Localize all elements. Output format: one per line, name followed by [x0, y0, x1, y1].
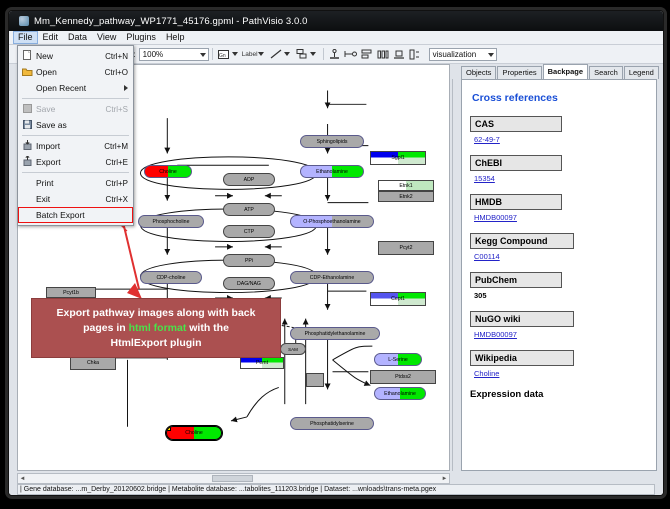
gene-node-sgpl1[interactable]: Sgpl1	[370, 151, 426, 165]
annotation-line-2: pages in html format with the	[83, 321, 229, 336]
xref-value-5[interactable]: HMDB00097	[474, 330, 648, 339]
metabolite-node-atp[interactable]: ATP	[223, 203, 275, 216]
metabolite-node-sphingolipids[interactable]: Sphingolipids	[300, 135, 364, 148]
cross-references-heading: Cross references	[472, 92, 648, 104]
annotation-highlight: html format	[129, 322, 187, 334]
gene-node-etnk2[interactable]: Etnk2	[378, 191, 434, 202]
file-menu-label: Save	[36, 104, 106, 114]
gene-node-ptdss2[interactable]: Ptdss2	[370, 370, 436, 384]
node-label: Cept1	[391, 296, 405, 302]
xref-label-4: PubChem	[470, 272, 562, 288]
gene-node-pcyt1b[interactable]: Pcyt1b	[46, 287, 96, 298]
toolbar-separator-1	[212, 48, 213, 60]
menu-help[interactable]: Help	[161, 31, 190, 44]
metabolite-node-ethanolamine-top[interactable]: Ethanolamine	[300, 165, 364, 178]
gene-node-cept1[interactable]: Cept1	[370, 292, 426, 306]
file-menu-label: Print	[36, 178, 106, 188]
xref-label-6: Wikipedia	[470, 350, 574, 366]
side-panel: Objects Properties Backpage Search Legen…	[452, 66, 657, 471]
gene-node-chka[interactable]: Chka	[70, 356, 116, 370]
app-icon	[19, 16, 29, 26]
new-file-icon	[18, 50, 36, 62]
align-icon[interactable]	[360, 47, 374, 61]
datanode-icon[interactable]: Gn	[217, 47, 231, 61]
menu-separator	[22, 172, 129, 173]
annotation-line-1: Export pathway images along with back	[57, 306, 256, 321]
gene-node-pemt[interactable]: Pemt	[240, 357, 284, 369]
tab-backpage[interactable]: Backpage	[543, 64, 588, 79]
gene-node-anchor-shape[interactable]	[306, 373, 324, 387]
annotation-line-3: HtmlExport plugin	[111, 336, 202, 351]
node-label: Etnk2	[399, 194, 412, 200]
metabolite-node-ppi[interactable]: PPi	[223, 254, 275, 267]
metabolite-node-dag-nag[interactable]: DAG/NAG	[223, 277, 275, 290]
file-menu-item-open-recent[interactable]: Open Recent	[18, 80, 133, 96]
node-label: DAG/NAG	[237, 281, 261, 287]
metabolite-node-cdp-ethanolamine[interactable]: CDP-Ethanolamine	[290, 271, 374, 284]
node-label: Phosphatidylethanolamine	[305, 331, 366, 337]
node-label: Ptdss2	[395, 374, 411, 380]
export-icon	[18, 156, 36, 168]
xref-value-4: 305	[474, 291, 648, 300]
file-menu-item-open[interactable]: Open Ctrl+O	[18, 64, 133, 80]
metabolite-node-o-phosphoethanolamine[interactable]: O-Phosphoethanolamine	[290, 215, 374, 228]
anchor-icon[interactable]	[328, 47, 342, 61]
xref-value-1[interactable]: 15354	[474, 174, 648, 183]
xref-label-3: Kegg Compound	[470, 233, 574, 249]
metabolite-node-cdp-choline[interactable]: CDP-choline	[140, 271, 202, 284]
save-disabled-icon	[18, 104, 36, 115]
file-menu-item-new[interactable]: New Ctrl+N	[18, 48, 133, 64]
status-bar: | Gene database: ...m_Derby_20120602.bri…	[17, 484, 655, 495]
shape-icon[interactable]	[295, 47, 309, 61]
interaction-icon[interactable]	[344, 47, 358, 61]
node-label: CDP-choline	[156, 275, 185, 281]
node-label: SAM	[288, 347, 298, 352]
node-label: Phosphatidylserine	[310, 421, 354, 427]
tab-search[interactable]: Search	[589, 66, 623, 79]
side-panel-tabs: Objects Properties Backpage Search Legen…	[452, 66, 657, 79]
file-menu-item-exit[interactable]: Exit Ctrl+X	[18, 191, 133, 207]
save-as-icon	[18, 120, 36, 131]
node-label: L-Serine	[388, 357, 408, 363]
menu-separator	[22, 135, 129, 136]
node-label: Phosphocholine	[153, 219, 190, 225]
menu-separator	[22, 98, 129, 99]
selection-handle[interactable]	[166, 426, 171, 431]
node-label: PPi	[245, 258, 253, 264]
file-menu-item-export[interactable]: Export Ctrl+E	[18, 154, 133, 170]
zoom-combo[interactable]: 100%	[139, 48, 209, 61]
visualization-combo[interactable]: visualization	[429, 48, 497, 61]
node-label: CTP	[244, 229, 254, 235]
menu-data[interactable]: Data	[63, 31, 92, 44]
title-bar: Mm_Kennedy_pathway_WP1771_45176.gpml - P…	[9, 11, 663, 31]
node-label: Ethanolamine	[316, 169, 348, 175]
stack-icon[interactable]	[392, 47, 406, 61]
shape-dropdown-icon[interactable]	[310, 52, 316, 56]
folder-open-icon	[18, 67, 36, 78]
menu-plugins[interactable]: Plugins	[121, 31, 161, 44]
xref-label-0: CAS	[470, 116, 562, 132]
metabolite-node-l-serine[interactable]: L-Serine	[374, 353, 422, 366]
node-label: ADP	[244, 177, 255, 183]
metabolite-node-choline-selected[interactable]: Choline	[166, 426, 222, 440]
file-menu-label: New	[36, 51, 105, 61]
chevron-down-icon	[488, 53, 494, 57]
group-icon[interactable]	[408, 47, 422, 61]
file-menu-label: Save as	[36, 120, 128, 130]
line-dropdown-icon[interactable]	[284, 52, 290, 56]
file-menu-item-print[interactable]: Print Ctrl+P	[18, 175, 133, 191]
cross-reference-list: CAS62-49-7ChEBI15354HMDBHMDB00097Kegg Co…	[470, 116, 648, 378]
tab-objects[interactable]: Objects	[461, 66, 496, 79]
backpage-content: Cross references CAS62-49-7ChEBI15354HMD…	[461, 79, 657, 471]
annotation-callout: Export pathway images along with back pa…	[31, 298, 281, 358]
canvas-horizontal-scrollbar[interactable]: ◄ ►	[17, 473, 450, 484]
menu-edit[interactable]: Edit	[38, 31, 64, 44]
expression-data-heading: Expression data	[470, 389, 648, 400]
file-menu-accel: Ctrl+M	[104, 142, 133, 151]
xref-label-1: ChEBI	[470, 155, 562, 171]
metabolite-node-ctp[interactable]: CTP	[223, 225, 275, 238]
annotation-line-2b: with the	[186, 322, 229, 334]
node-label: Choline	[185, 430, 203, 436]
file-menu-item-batch-export[interactable]: Batch Export	[18, 207, 133, 223]
file-menu-accel: Ctrl+X	[106, 195, 133, 204]
distribute-icon[interactable]	[376, 47, 390, 61]
node-label: Pcyt2	[400, 245, 413, 251]
node-label: CDP-Ethanolamine	[310, 275, 354, 281]
label-dropdown-icon[interactable]	[258, 52, 264, 56]
zoom-value: 100%	[143, 50, 163, 59]
metabolite-node-adp[interactable]: ADP	[223, 173, 275, 186]
menu-bar: File Edit Data View Plugins Help	[9, 31, 663, 45]
node-label: Chka	[87, 360, 99, 366]
file-menu-accel: Ctrl+E	[106, 158, 133, 167]
xref-label-2: HMDB	[470, 194, 562, 210]
file-menu-item-save-as[interactable]: Save as	[18, 117, 133, 133]
node-label: Pemt	[256, 360, 268, 366]
node-label: O-Phosphoethanolamine	[303, 219, 360, 225]
scroll-left-icon[interactable]: ◄	[18, 476, 27, 482]
annotation-line-2a: pages in	[83, 322, 129, 334]
line-icon[interactable]	[269, 47, 283, 61]
file-menu-item-import[interactable]: Import Ctrl+M	[18, 138, 133, 154]
gene-node-pcyt2[interactable]: Pcyt2	[378, 241, 434, 255]
node-label: Pcyt1b	[63, 290, 79, 296]
window-title: Mm_Kennedy_pathway_WP1771_45176.gpml - P…	[34, 16, 308, 27]
gene-node-etnk1[interactable]: Etnk1	[378, 180, 434, 191]
tab-legend[interactable]: Legend	[624, 66, 659, 79]
submenu-arrow-icon	[124, 85, 128, 91]
node-label: ATP	[244, 207, 254, 213]
label-icon[interactable]: Label	[242, 51, 258, 58]
metabolite-node-ethanolamine-low[interactable]: Ethanolamine	[374, 387, 426, 400]
file-menu-accel: Ctrl+P	[106, 179, 133, 188]
xref-label-5: NuGO wiki	[470, 311, 574, 327]
xref-value-6[interactable]: Choline	[474, 369, 648, 378]
visualization-value: visualization	[433, 50, 477, 59]
tab-properties[interactable]: Properties	[497, 66, 541, 79]
toolbar-separator-2	[323, 48, 324, 60]
file-menu-label: Import	[36, 141, 104, 151]
xref-value-0[interactable]: 62-49-7	[474, 135, 648, 144]
metabolite-node-phosphatidylethanolamine[interactable]: Phosphatidylethanolamine	[290, 327, 380, 340]
import-icon	[18, 140, 36, 152]
node-label: Choline	[159, 169, 177, 175]
metabolite-node-phosphocholine[interactable]: Phosphocholine	[138, 215, 204, 228]
file-menu-label: Batch Export	[36, 210, 133, 220]
metabolite-node-choline[interactable]: Choline	[144, 165, 192, 178]
application-window: Mm_Kennedy_pathway_WP1771_45176.gpml - P…	[8, 10, 664, 496]
xref-value-2[interactable]: HMDB00097	[474, 213, 648, 222]
node-label: Etnk1	[399, 183, 412, 189]
file-menu-label: Open Recent	[36, 83, 133, 93]
xref-value-3[interactable]: C00114	[474, 252, 648, 261]
node-label: Sphingolipids	[317, 139, 348, 145]
svg-text:Gn: Gn	[219, 53, 226, 59]
file-menu-label: Exit	[36, 194, 106, 204]
menu-file[interactable]: File	[13, 31, 38, 44]
scroll-right-icon[interactable]: ►	[440, 476, 449, 482]
file-menu-label: Open	[36, 67, 105, 77]
file-menu-accel: Ctrl+S	[106, 105, 133, 114]
metabolite-node-sam[interactable]: SAM	[280, 343, 306, 355]
file-menu-label: Export	[36, 157, 106, 167]
node-label: Ethanolamine	[384, 391, 416, 397]
file-menu-accel: Ctrl+N	[105, 52, 133, 61]
file-menu-dropdown[interactable]: New Ctrl+N Open Ctrl+O Open Recent	[17, 45, 134, 226]
menu-view[interactable]: View	[92, 31, 121, 44]
scroll-thumb[interactable]	[212, 475, 253, 482]
metabolite-node-phosphatidylserine[interactable]: Phosphatidylserine	[290, 417, 374, 430]
datanode-dropdown-icon[interactable]	[232, 52, 238, 56]
file-menu-item-save: Save Ctrl+S	[18, 101, 133, 117]
file-menu-accel: Ctrl+O	[105, 68, 133, 77]
chevron-down-icon	[200, 53, 206, 57]
screenshot-root: Mm_Kennedy_pathway_WP1771_45176.gpml - P…	[0, 0, 670, 509]
node-label: Sgpl1	[391, 155, 404, 161]
